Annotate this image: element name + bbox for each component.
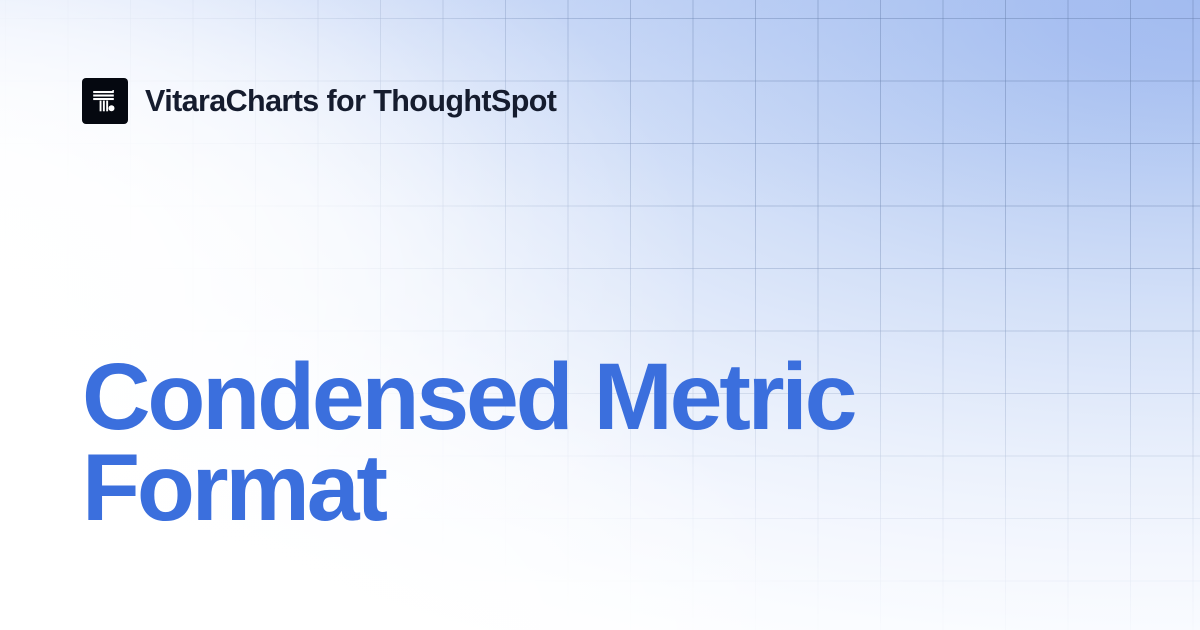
hero-section: Condensed Metric Format — [82, 352, 1082, 534]
brand-lockup: VitaraCharts for ThoughtSpot — [82, 78, 556, 124]
brand-title: VitaraCharts for ThoughtSpot — [145, 86, 556, 117]
card-content: VitaraCharts for ThoughtSpot Condensed M… — [0, 0, 1200, 630]
og-card: VitaraCharts for ThoughtSpot Condensed M… — [0, 0, 1200, 630]
page-title: Condensed Metric Format — [82, 352, 1082, 534]
column-pillar-icon — [82, 78, 128, 124]
